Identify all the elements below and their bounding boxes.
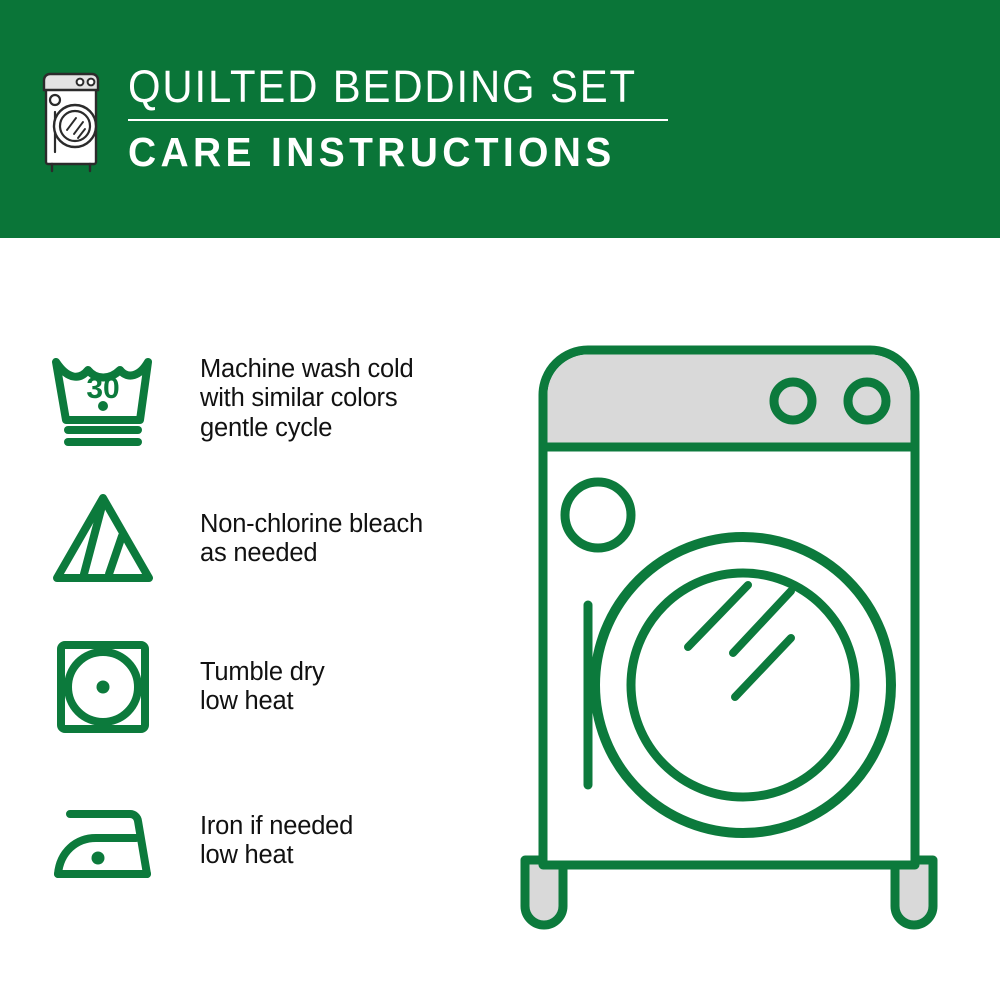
- detergent-indicator-circle: [565, 482, 631, 548]
- care-item-machine-wash: 30 Machine wash cold with similar colors…: [48, 346, 413, 452]
- care-item-non-chlorine-bleach: Non-chlorine bleach as needed: [48, 486, 423, 592]
- tumble-dry-low-heat-icon: [48, 634, 158, 740]
- header-content: QUILTED BEDDING SET CARE INSTRUCTIONS: [42, 62, 675, 175]
- triangle-non-chlorine-bleach-icon: [48, 486, 158, 592]
- title-block: QUILTED BEDDING SET CARE INSTRUCTIONS: [128, 62, 675, 175]
- wash-temperature-label: 30: [86, 372, 119, 405]
- care-item-label: Tumble dry low heat: [200, 658, 325, 717]
- care-item-label: Iron if needed low heat: [200, 812, 353, 871]
- foot-left: [525, 860, 563, 925]
- front-load-washing-machine-illustration: [495, 335, 970, 935]
- iron-low-heat-icon: [48, 788, 158, 894]
- control-panel: [548, 355, 911, 448]
- foot-right: [895, 860, 933, 925]
- care-instruction-list: 30 Machine wash cold with similar colors…: [0, 238, 470, 1000]
- washing-machine-icon: [42, 68, 104, 174]
- title-divider: [128, 119, 668, 121]
- care-item-iron: Iron if needed low heat: [48, 788, 353, 894]
- care-item-label: Non-chlorine bleach as needed: [200, 510, 423, 569]
- page-title: QUILTED BEDDING SET: [128, 62, 637, 112]
- care-item-label: Machine wash cold with similar colors ge…: [200, 355, 413, 444]
- care-instructions-infographic: QUILTED BEDDING SET CARE INSTRUCTIONS: [0, 0, 1000, 1000]
- wash-tub-30-icon: 30: [48, 346, 158, 452]
- page-subtitle: CARE INSTRUCTIONS: [128, 129, 648, 175]
- header-banner: QUILTED BEDDING SET CARE INSTRUCTIONS: [0, 0, 1000, 238]
- care-item-tumble-dry: Tumble dry low heat: [48, 634, 325, 740]
